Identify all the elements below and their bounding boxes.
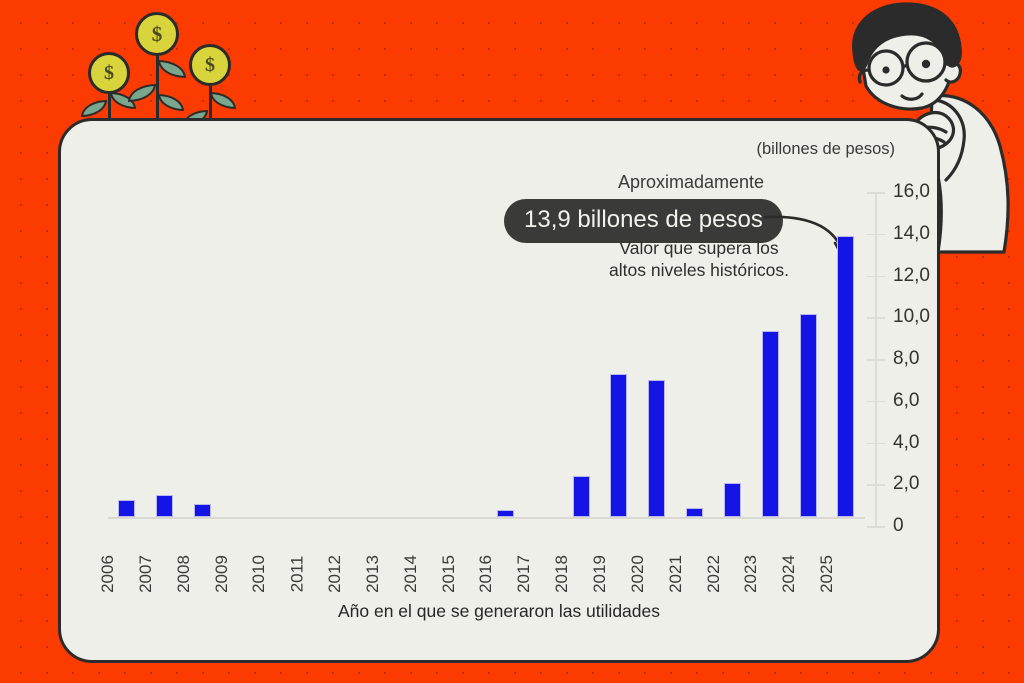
axis-unit-label: (billones de pesos) [757,140,896,159]
x-label-slot: 2025 [827,523,865,603]
bar-slot [146,495,184,517]
bar-slot [486,510,524,517]
y-tick-mark [867,443,885,445]
bar-slot [600,374,638,517]
bar-2023[interactable] [762,331,779,517]
leaf-icon [81,100,107,117]
bar-slot [562,476,600,518]
bar-slot [751,331,789,517]
plot-area [108,193,865,519]
coin-symbol: $ [205,54,215,77]
y-tick-mark [867,484,885,486]
bar-2016[interactable] [497,510,514,517]
coin-icon: $ [189,44,231,86]
bar-chart: (billones de pesos) Aproximadamente 13,9… [61,121,937,660]
money-plant-center: $ [128,12,186,130]
y-tick-label: 14,0 [893,223,930,245]
coin-symbol: $ [104,62,114,85]
y-tick-mark [867,317,885,319]
bar-slot [184,504,222,517]
bar-2025[interactable] [837,236,854,517]
bar-2020[interactable] [648,380,665,517]
leaf-icon [210,92,236,109]
bar-2019[interactable] [610,374,627,517]
x-axis-labels: 2006200720082009201020112012201320142015… [108,523,865,603]
y-tick-mark [867,192,885,194]
y-tick-label: 6,0 [893,390,919,412]
chart-card: (billones de pesos) Aproximadamente 13,9… [58,118,940,663]
y-tick-label: 10,0 [893,306,930,328]
bar-2008[interactable] [194,504,211,517]
bar-2021[interactable] [686,508,703,517]
bar-slot [789,314,827,518]
leaf-icon [158,94,184,111]
coin-symbol: $ [152,22,163,47]
y-tick-mark [867,234,885,236]
bar-slot [827,236,865,517]
y-tick-label: 16,0 [893,181,930,203]
bar-series [108,193,865,517]
bar-2007[interactable] [156,495,173,517]
annotation-approx-label: Aproximadamente [551,172,831,193]
y-tick-label: 2,0 [893,473,919,495]
x-tick-label-2025: 2025 [817,555,875,593]
bar-slot [676,508,714,517]
bar-2006[interactable] [118,500,135,517]
coin-icon: $ [88,52,130,94]
y-tick-label: 4,0 [893,432,919,454]
bar-2024[interactable] [800,314,817,518]
y-tick-label: 12,0 [893,265,930,287]
leaf-icon [128,84,156,102]
x-axis-title: Año en el que se generaron las utilidade… [61,601,937,622]
y-tick-mark [867,276,885,278]
y-tick-mark [867,401,885,403]
coin-icon: $ [135,12,179,56]
bar-slot [714,483,752,517]
y-tick-mark [867,526,885,528]
x-axis-line [108,517,865,519]
bar-slot [108,500,146,517]
bar-2018[interactable] [573,476,590,518]
y-tick-label: 8,0 [893,348,919,370]
infographic-canvas: $ $ $ [0,0,1024,683]
y-tick-mark [867,359,885,361]
bar-slot [638,380,676,517]
bar-2022[interactable] [724,483,741,517]
y-tick-label: 0 [893,515,904,537]
y-axis: 02,04,06,08,010,012,014,016,0 [865,185,965,527]
